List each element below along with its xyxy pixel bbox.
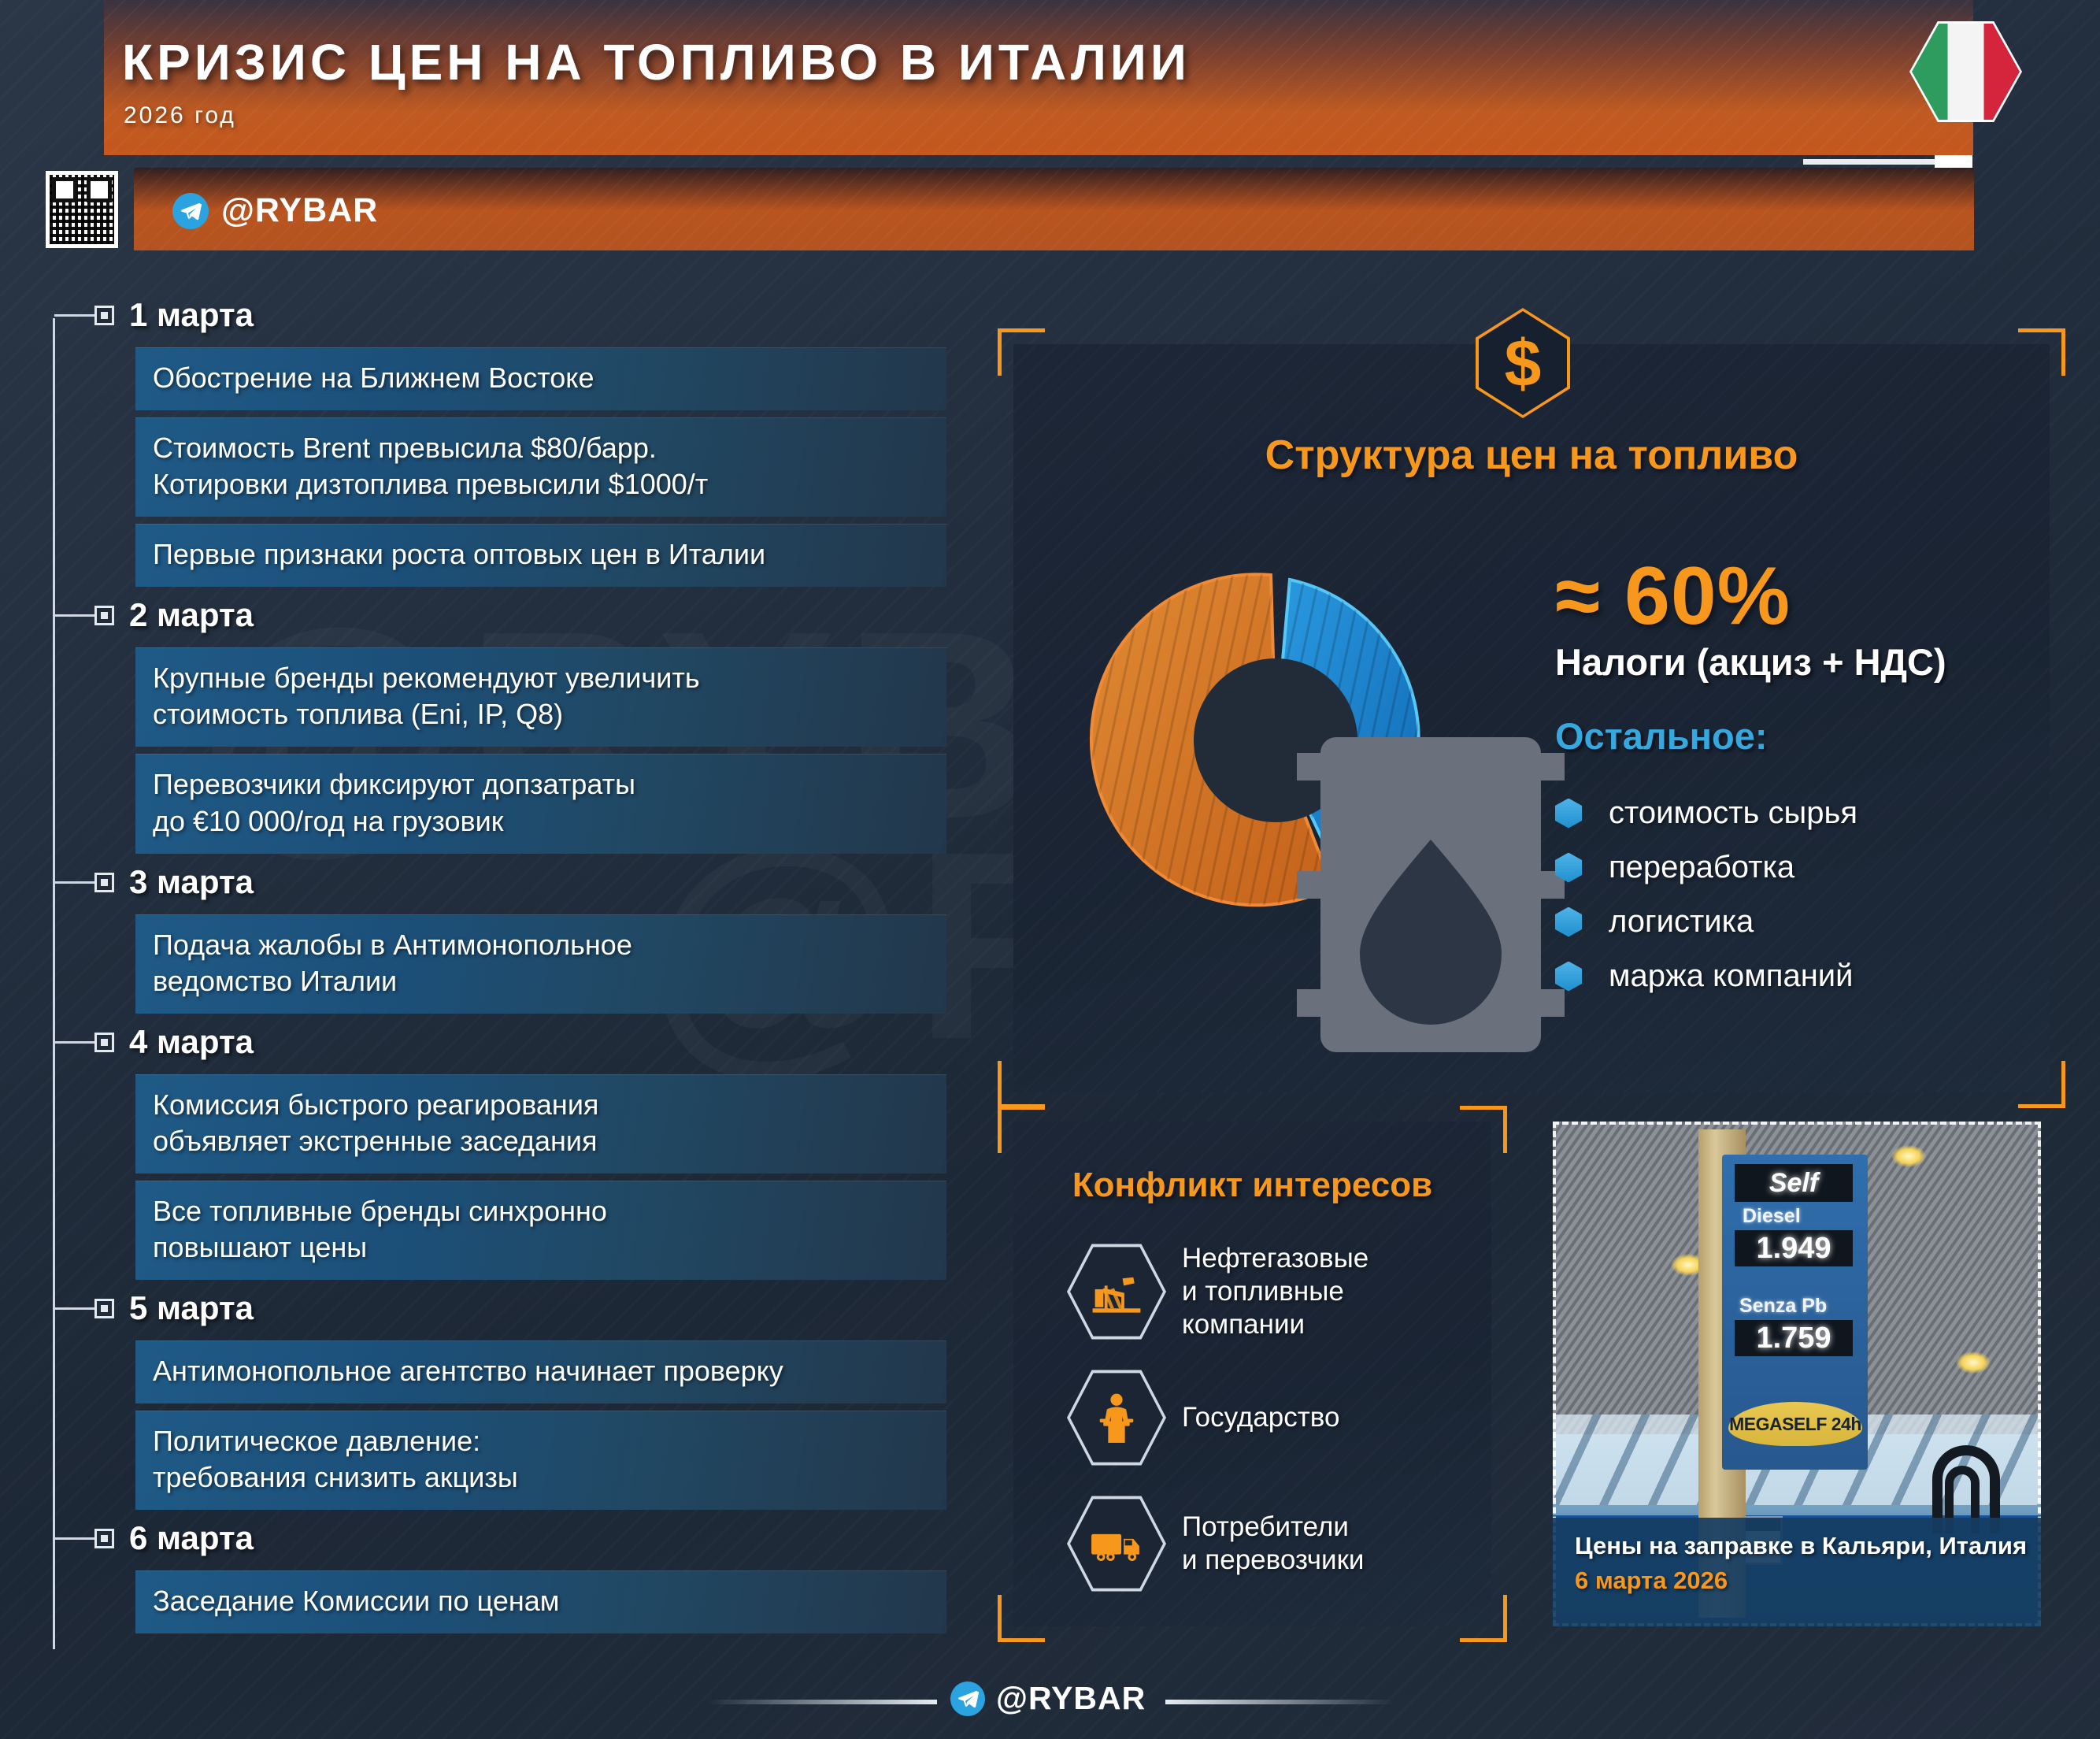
timeline-marker-icon [94, 873, 114, 892]
timeline-item-text: Обострение на Ближнем Востоке [153, 360, 929, 396]
footer-channel-handle: @RYBAR [996, 1680, 1146, 1717]
timeline-item: Политическое давление: требования снизит… [135, 1411, 946, 1510]
hexagon-bullet-icon [1555, 853, 1582, 883]
timeline-connector [54, 614, 95, 617]
timeline-date: 3 марта [129, 863, 254, 901]
oil-pumpjack-icon [1067, 1242, 1166, 1341]
timeline-item-text: Подача жалобы в Антимонопольное ведомств… [153, 927, 929, 999]
timeline-item-text: Стоимость Brent превысила $80/барр. Коти… [153, 430, 929, 502]
timeline-item-text: Комиссия быстрого реагирования объявляет… [153, 1087, 929, 1159]
conflict-item-label: Государство [1182, 1401, 1339, 1434]
corner-bracket [1460, 1106, 1507, 1153]
timeline-item-text: Крупные бренды рекомендуют увеличить сто… [153, 660, 929, 732]
timeline-connector [54, 881, 95, 884]
timeline-item: Крупные бренды рекомендуют увеличить сто… [135, 647, 946, 747]
timeline-date: 1 марта [129, 296, 254, 334]
totem-senza-price: 1.759 [1735, 1320, 1853, 1356]
header-banner: КРИЗИС ЦЕН НА ТОПЛИВО В ИТАЛИИ 2026 год [104, 0, 1973, 155]
timeline-item: Перевозчики фиксируют допзатраты до €10 … [135, 754, 946, 853]
list-item: маржа компаний [1555, 949, 2043, 1003]
timeline-item-text: Политическое давление: требования снизит… [153, 1423, 929, 1496]
timeline-item: Заседание Комиссии по ценам [135, 1570, 946, 1633]
timeline-marker-icon [94, 1529, 114, 1548]
timeline-item-text: Первые признаки роста оптовых цен в Итал… [153, 536, 929, 573]
timeline-date-row: 5 марта [46, 1283, 983, 1333]
corner-bracket [998, 1061, 1045, 1108]
timeline-connector [54, 1537, 95, 1540]
oil-barrel-icon [1234, 698, 1319, 784]
timeline-marker-icon [94, 1299, 114, 1318]
timeline-date-row: 3 марта [46, 857, 983, 907]
timeline-group: 3 марта Подача жалобы в Антимонопольное … [46, 857, 983, 1014]
photo-caption-date: 6 марта 2026 [1575, 1567, 2041, 1595]
timeline-date: 5 марта [129, 1289, 254, 1327]
rest-item-label: логистика [1609, 904, 1754, 940]
infographic-root: @RYBAR @RYBAR КРИЗИС ЦЕН НА ТОПЛИВО В ИТ… [0, 0, 2100, 1739]
timeline-group: 6 марта Заседание Комиссии по ценам [46, 1513, 983, 1633]
channel-handle: @RYBAR [221, 191, 378, 230]
totem-brand-label: MEGASELF 24h [1728, 1402, 1862, 1446]
timeline-date-row: 2 марта [46, 590, 983, 640]
footer-divider-left [709, 1700, 937, 1704]
corner-bracket [998, 328, 1045, 376]
timeline-group: 4 марта Комиссия быстрого реагирования о… [46, 1017, 983, 1280]
conflict-title: Конфликт интересов [1013, 1166, 1491, 1205]
timeline-item: Стоимость Brent превысила $80/барр. Коти… [135, 417, 946, 517]
timeline-date-row: 1 марта [46, 290, 983, 340]
totem-diesel-label: Diesel [1743, 1205, 1801, 1228]
list-item: Потребители и перевозчики [1067, 1481, 1492, 1607]
timeline-item-text: Перевозчики фиксируют допзатраты до €10 … [153, 766, 929, 839]
timeline: 1 марта Обострение на Ближнем Востоке Ст… [46, 290, 983, 1637]
timeline-item-text: Заседание Комиссии по ценам [153, 1583, 929, 1619]
list-item: стоимость сырья [1555, 786, 2043, 840]
timeline-marker-icon [94, 306, 114, 325]
timeline-marker-icon [94, 1033, 114, 1052]
timeline-group: 2 марта Крупные бренды рекомендуют увели… [46, 590, 983, 853]
corner-bracket [998, 1106, 1045, 1153]
conflict-list: Нефтегазовые и топливные компании [1067, 1229, 1492, 1607]
timeline-item-text: Антимонопольное агентство начинает прове… [153, 1353, 929, 1389]
photo-caption: Цены на заправке в Кальяри, Италия 6 мар… [1553, 1518, 2041, 1626]
totem-self-label: Self [1735, 1164, 1853, 1202]
corner-bracket [2018, 1061, 2065, 1108]
timeline-item: Все топливные бренды синхронно повышают … [135, 1181, 946, 1280]
rest-legend-title: Остальное: [1555, 714, 1768, 758]
timeline-date: 6 марта [129, 1519, 254, 1557]
timeline-item: Подача жалобы в Антимонопольное ведомств… [135, 914, 946, 1014]
timeline-group: 5 марта Антимонопольное агентство начина… [46, 1283, 983, 1510]
hexagon-bullet-icon [1555, 907, 1582, 937]
tax-percent-value: ≈ 60% [1555, 550, 1791, 643]
qr-code-icon[interactable] [46, 171, 118, 248]
list-item: переработка [1555, 840, 2043, 895]
timeline-item: Обострение на Ближнем Востоке [135, 347, 946, 410]
timeline-date: 2 марта [129, 596, 254, 634]
timeline-date-row: 6 марта [46, 1513, 983, 1563]
timeline-date: 4 марта [129, 1023, 254, 1061]
conflict-item-label: Потребители и перевозчики [1182, 1511, 1364, 1577]
italy-flag-icon [1909, 21, 2022, 122]
price-totem: Self Diesel 1.949 Senza Pb 1.759 MEGASEL… [1722, 1155, 1868, 1470]
corner-bracket [998, 1595, 1045, 1642]
timeline-date-row: 4 марта [46, 1017, 983, 1067]
list-item: Нефтегазовые и топливные компании [1067, 1229, 1492, 1355]
tax-percent-label: Налоги (акциз + НДС) [1555, 640, 1946, 684]
corner-bracket [2018, 328, 2065, 376]
rest-legend-list: стоимость сырья переработка логистика ма… [1555, 786, 2043, 1003]
timeline-connector [54, 1041, 95, 1044]
totem-senza-label: Senza Pb [1739, 1295, 1827, 1318]
timeline-item: Антимонопольное агентство начинает прове… [135, 1340, 946, 1403]
government-podium-icon [1067, 1368, 1166, 1467]
timeline-item: Первые признаки роста оптовых цен в Итал… [135, 524, 946, 587]
rest-item-label: переработка [1609, 850, 1794, 885]
timeline-marker-icon [94, 606, 114, 625]
timeline-item-text: Все топливные бренды синхронно повышают … [153, 1193, 929, 1266]
rest-item-label: маржа компаний [1609, 958, 1854, 994]
totem-diesel-price: 1.949 [1735, 1230, 1853, 1266]
telegram-icon [172, 193, 209, 229]
timeline-item: Комиссия быстрого реагирования объявляет… [135, 1074, 946, 1174]
timeline-connector [54, 314, 95, 317]
footer-divider-right [1165, 1700, 1394, 1704]
timeline-group: 1 марта Обострение на Ближнем Востоке Ст… [46, 290, 983, 587]
footer-channel[interactable]: @RYBAR [950, 1680, 1146, 1717]
telegram-icon [950, 1682, 985, 1716]
truck-icon [1067, 1494, 1166, 1593]
channel-bar [134, 168, 1974, 250]
hexagon-bullet-icon [1555, 962, 1582, 992]
hexagon-bullet-icon [1555, 799, 1582, 829]
rest-item-label: стоимость сырья [1609, 795, 1857, 831]
photo-caption-location: Цены на заправке в Кальяри, Италия [1575, 1532, 2041, 1560]
list-item: логистика [1555, 895, 2043, 949]
channel-handle-row[interactable]: @RYBAR [172, 191, 378, 230]
price-structure-title: Структура цен на топливо [1013, 432, 2050, 479]
page-title: КРИЗИС ЦЕН НА ТОПЛИВО В ИТАЛИИ [122, 33, 1191, 91]
list-item: Государство [1067, 1355, 1492, 1481]
conflict-item-label: Нефтегазовые и топливные компании [1182, 1242, 1369, 1341]
fuel-price-donut-chart [1079, 543, 1472, 937]
page-subtitle: 2026 год [124, 102, 236, 129]
timeline-connector [54, 1307, 95, 1310]
